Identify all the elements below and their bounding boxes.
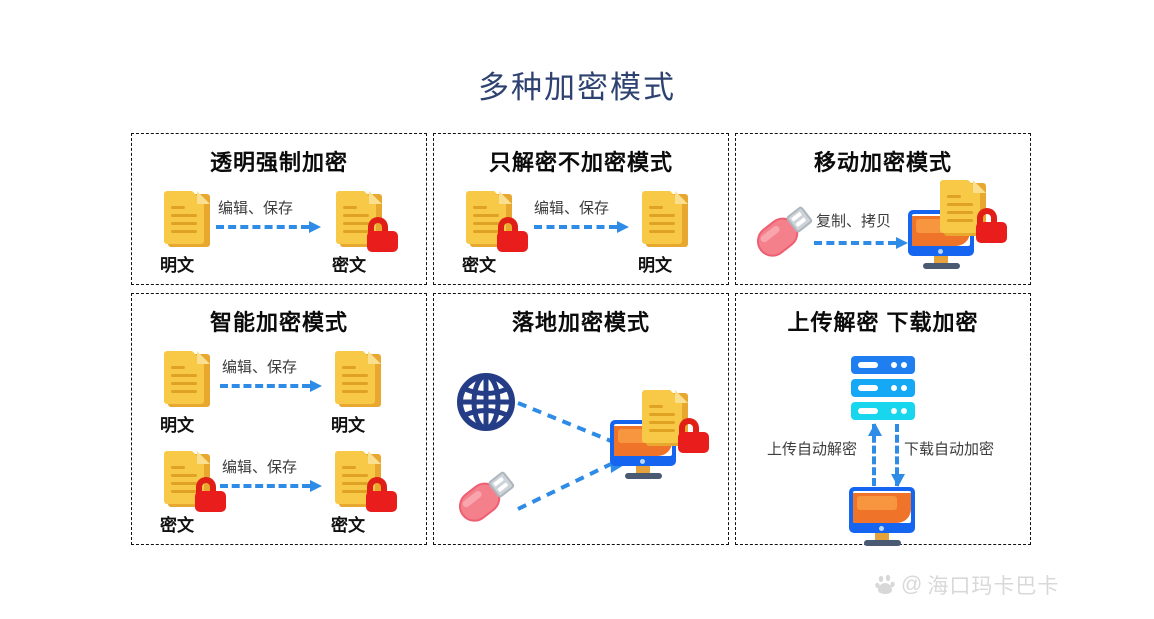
lock-icon (495, 217, 529, 253)
arrow-head (896, 237, 908, 249)
globe-icon (456, 372, 516, 432)
document-icon (335, 351, 381, 407)
arrow-head (891, 474, 905, 487)
document-icon (642, 191, 688, 247)
lock-body (976, 222, 1007, 243)
source-label: 明文 (160, 411, 194, 436)
lock-body (367, 231, 398, 252)
target-label: 密文 (331, 511, 365, 536)
upload-arrow (868, 424, 880, 486)
panel-landing-encryption-mode: 落地加密模式 (433, 293, 729, 545)
arrow-head (868, 423, 882, 436)
document-line (171, 214, 197, 217)
document-line (342, 374, 368, 377)
monitor-base (923, 263, 960, 269)
flow-arrow (216, 221, 321, 233)
lock-body (678, 432, 709, 453)
flow-arrow (814, 237, 908, 249)
source-label: 密文 (462, 251, 496, 276)
document-line (947, 203, 973, 206)
panel-body: 上传自动解密 下载自动加密 (736, 294, 1030, 544)
server-led-bar (858, 362, 878, 368)
document-line (171, 382, 197, 385)
server-led (891, 385, 897, 391)
server-led-bar (858, 385, 878, 391)
document-line (171, 466, 185, 469)
server-led-bar (858, 408, 878, 414)
download-arrow (891, 424, 903, 486)
arrow-label: 复制、拷贝 (816, 210, 891, 231)
lock-body (366, 491, 397, 512)
document-line (947, 219, 973, 222)
panel-body: 明文 编辑、保存 密文 (132, 134, 426, 284)
document-line (649, 413, 675, 416)
lock-icon (974, 208, 1008, 244)
lock-icon (676, 418, 710, 454)
document-line (947, 211, 973, 214)
panel-decrypt-only-mode: 只解密不加密模式 密文 编辑、保存 (433, 133, 729, 285)
document-line (342, 466, 356, 469)
monitor-icon (849, 487, 915, 547)
server-unit (851, 402, 915, 420)
arrow-line (220, 484, 310, 488)
monitor-indicator (640, 459, 645, 464)
panel-body (434, 294, 728, 544)
document-line (171, 230, 197, 233)
arrow-line (216, 225, 309, 229)
document-line (342, 366, 356, 369)
document-line (342, 382, 368, 385)
server-led (891, 408, 897, 414)
arrow-line (220, 384, 310, 388)
monitor-base (625, 473, 662, 479)
panel-body: 密文 编辑、保存 明文 (434, 134, 728, 284)
watermark-text: 海口玛卡巴卡 (927, 570, 1059, 600)
flow-arrow (220, 380, 322, 392)
document-line (649, 405, 663, 408)
document-line (947, 195, 961, 198)
lock-body (195, 491, 226, 512)
panel-transparent-forced-encryption: 透明强制加密 明文 编辑、保存 (131, 133, 427, 285)
panel-mobile-encryption-mode: 移动加密模式 复制、拷贝 (735, 133, 1031, 285)
arrow-line (534, 225, 617, 229)
monitor-screen-highlight (857, 496, 897, 510)
panel-body: 明文 编辑、保存 明文 (132, 294, 426, 544)
target-label: 明文 (331, 411, 365, 436)
monitor-indicator (879, 526, 884, 531)
arrow-label: 编辑、保存 (534, 197, 609, 218)
document-line (649, 206, 663, 209)
usb-drive-icon (748, 197, 821, 267)
baidu-paw-icon (875, 574, 897, 596)
panel-upload-decrypt-download-encrypt: 上传解密 下载加密 (735, 293, 1031, 545)
monitor-base (864, 540, 901, 546)
usb-drive-icon (450, 462, 523, 532)
document-line (171, 374, 197, 377)
encryption-modes-grid: 透明强制加密 明文 编辑、保存 (131, 133, 1032, 545)
panel-body: 复制、拷贝 (736, 134, 1030, 284)
target-label: 密文 (332, 251, 366, 276)
document-line (343, 206, 357, 209)
document-icon (164, 351, 210, 407)
arrow-line (814, 241, 896, 245)
document-line (171, 366, 185, 369)
download-label: 下载自动加密 (904, 438, 994, 459)
monitor-screen (853, 491, 911, 523)
flow-arrow (220, 480, 322, 492)
arrow-line (518, 464, 611, 509)
globe-svg (456, 372, 516, 432)
source-label: 明文 (160, 251, 194, 276)
document-line (649, 214, 675, 217)
server-stack-icon (851, 356, 915, 420)
source-label: 密文 (160, 511, 194, 536)
lock-icon (364, 477, 398, 513)
panel-smart-encryption-mode: 智能加密模式 明文 编辑、保存 (131, 293, 427, 545)
document-line (171, 390, 197, 393)
document-line (649, 429, 675, 432)
monitor-indicator (938, 249, 943, 254)
document-line (171, 222, 197, 225)
document-line (649, 421, 675, 424)
server-led (901, 362, 907, 368)
server-unit (851, 379, 915, 397)
server-led (901, 408, 907, 414)
arrow-label: 编辑、保存 (222, 356, 297, 377)
arrow-head (310, 480, 322, 492)
server-led (891, 362, 897, 368)
target-label: 明文 (638, 251, 672, 276)
server-unit (851, 356, 915, 374)
document-line (473, 206, 487, 209)
flow-arrow (534, 221, 629, 233)
arrow-line (518, 403, 611, 441)
upload-label: 上传自动解密 (767, 438, 857, 459)
document-line (342, 390, 368, 393)
arrow-head (617, 221, 629, 233)
watermark-at: @ (901, 573, 923, 597)
arrow-label: 编辑、保存 (218, 197, 293, 218)
document-line (649, 230, 675, 233)
document-line (649, 222, 675, 225)
document-line (171, 206, 185, 209)
watermark: @ 海口玛卡巴卡 (875, 570, 1059, 600)
lock-body (497, 231, 528, 252)
page-title: 多种加密模式 (0, 62, 1154, 107)
lock-icon (365, 217, 399, 253)
arrow-head (310, 380, 322, 392)
server-led (901, 385, 907, 391)
arrow-head (309, 221, 321, 233)
document-icon (164, 191, 210, 247)
arrow-label: 编辑、保存 (222, 456, 297, 477)
